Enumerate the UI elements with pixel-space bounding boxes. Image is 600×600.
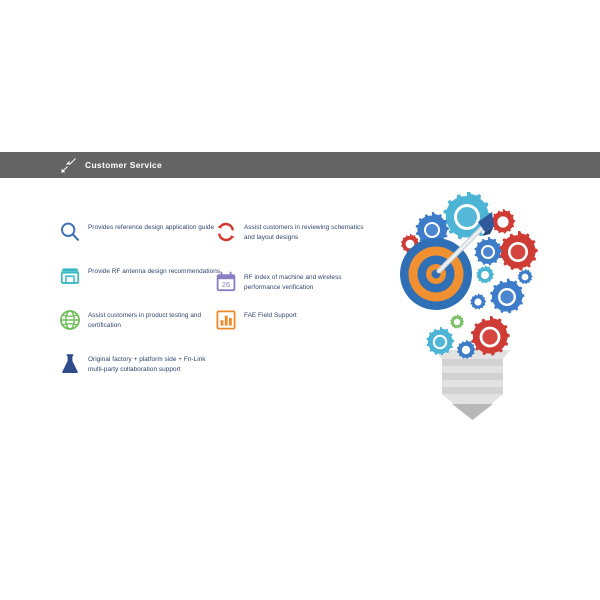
list-item[interactable]: Provides reference design application gu…	[58, 220, 223, 244]
page-title: Customer Service	[85, 152, 162, 178]
list-item[interactable]: Assist customers in product testing and …	[58, 308, 223, 332]
list-item-label: Provides reference design application gu…	[88, 220, 214, 233]
sync-arrows-icon	[214, 220, 238, 244]
list-item[interactable]: Original factory + platform side + Fn-Li…	[58, 352, 223, 376]
flask-icon	[58, 352, 82, 376]
slide-canvas: Customer Service Provides reference desi…	[0, 0, 600, 600]
collapse-arrows-icon[interactable]	[60, 157, 77, 174]
list-item-label: Assist customers in reviewing schematics…	[244, 220, 364, 242]
list-item-label: Assist customers in product testing and …	[88, 308, 223, 330]
store-icon	[58, 264, 82, 288]
magnifier-icon	[58, 220, 82, 244]
bar-chart-icon	[214, 308, 238, 332]
list-item[interactable]: 26 RF index of machine and wireless perf…	[214, 270, 364, 294]
gear-lightbulb-with-target-illustration	[390, 192, 555, 427]
list-item[interactable]: Provide RF antenna design recommendation…	[58, 264, 223, 288]
list-item-label: Original factory + platform side + Fn-Li…	[88, 352, 223, 374]
list-item-label: RF index of machine and wireless perform…	[244, 270, 364, 292]
bulb-base	[435, 350, 510, 420]
calendar-day-number: 26	[222, 280, 230, 289]
globe-icon	[58, 308, 82, 332]
list-item[interactable]: FAE Field Support	[214, 308, 364, 332]
list-item-label: Provide RF antenna design recommendation…	[88, 264, 220, 277]
list-item[interactable]: Assist customers in reviewing schematics…	[214, 220, 364, 244]
section-header-bar: Customer Service	[0, 152, 600, 178]
list-item-label: FAE Field Support	[244, 308, 297, 321]
calendar-icon: 26	[214, 270, 238, 294]
